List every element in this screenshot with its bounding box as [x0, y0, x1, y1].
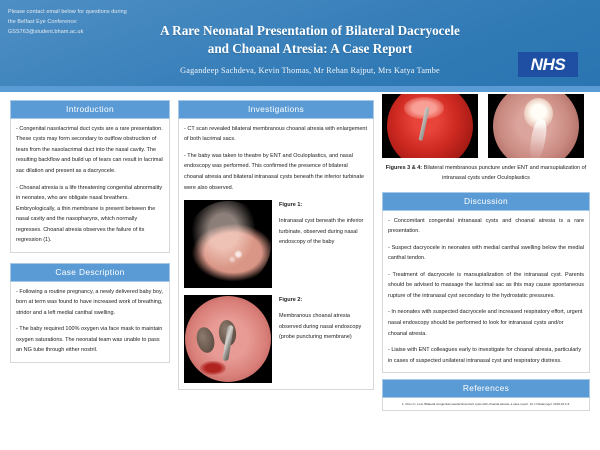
page-title-line2: and Choanal Atresia: A Case Report [208, 41, 413, 56]
endoscopy-image-figure-1 [184, 200, 272, 288]
endoscope-view-icon [387, 94, 473, 158]
endoscopy-image-figure-2 [184, 295, 272, 383]
investigations-paragraph-1: - CT scan revealed bilateral membranous … [184, 124, 368, 145]
choana-opening-left [194, 325, 217, 354]
author-list: Gagandeep Sachdeva, Kevin Thomas, Mr Reh… [130, 66, 490, 75]
column-right: Figures 3 & 4: Bilateral membranous punc… [382, 94, 590, 411]
column-left: Introduction - Congenital nasolacrimal d… [10, 100, 170, 363]
figure-2-caption: Figure 2: Membranous choanal atresia obs… [272, 295, 368, 383]
discussion-paragraph-3: - Treatment of dacryocele is marsupializ… [388, 270, 584, 302]
case-description-paragraph-1: - Following a routine pregnancy, a newly… [16, 287, 164, 319]
section-panel-references: 1. Chen C, et al. Bilateral congenital n… [382, 398, 590, 411]
section-panel-case-description: - Following a routine pregnancy, a newly… [10, 282, 170, 363]
poster-body: Introduction - Congenital nasolacrimal d… [0, 92, 600, 450]
page-title: A Rare Neonatal Presentation of Bilatera… [130, 22, 490, 57]
section-header-introduction: Introduction [10, 100, 170, 119]
figure-1-title: Figure 1: [279, 200, 368, 211]
section-header-investigations: Investigations [178, 100, 374, 119]
section-header-case-description: Case Description [10, 263, 170, 282]
endoscope-view-icon [185, 296, 271, 382]
figures-3-4-caption-text: Bilateral membranous puncture under ENT … [422, 165, 586, 181]
contact-note: Please contact email below for questions… [8, 7, 136, 37]
figures-3-4-caption-label: Figures 3 & 4: [386, 165, 422, 171]
discussion-paragraph-1: - Concomitant congenital intranasal cyst… [388, 216, 584, 237]
discussion-paragraph-5: - Liaise with ENT colleagues early to in… [388, 345, 584, 366]
poster-root: Please contact email below for questions… [0, 0, 600, 450]
figures-3-4-images [382, 94, 590, 158]
page-title-line1: A Rare Neonatal Presentation of Bilatera… [160, 23, 460, 38]
image-figure-3 [382, 94, 478, 158]
endoscope-view-icon [185, 201, 271, 287]
nhs-logo: NHS [518, 52, 578, 77]
section-header-discussion: Discussion [382, 192, 590, 211]
investigations-paragraph-2: - The baby was taken to theatre by ENT a… [184, 151, 368, 193]
figure-1-caption-text: Intranasal cyst beneath the inferior tur… [279, 218, 363, 245]
poster-header: Please contact email below for questions… [0, 0, 600, 92]
figure-2-caption-text: Membranous choanal atresia observed duri… [279, 313, 361, 340]
figures-3-4-caption: Figures 3 & 4: Bilateral membranous punc… [382, 163, 590, 184]
figure-2-row: Figure 2: Membranous choanal atresia obs… [184, 295, 368, 383]
reference-entry-1: 1. Chen C, et al. Bilateral congenital n… [386, 400, 586, 407]
introduction-paragraph-1: - Congenital nasolacrimal duct cysts are… [16, 124, 164, 177]
blood-spot [200, 361, 226, 375]
discussion-paragraph-4: - In neonates with suspected dacryocele … [388, 307, 584, 339]
figure-1-caption: Figure 1: Intranasal cyst beneath the in… [272, 200, 368, 288]
discussion-paragraph-2: - Suspect dacryocele in neonates with me… [388, 243, 584, 264]
case-description-paragraph-2: - The baby required 100% oxygen via face… [16, 324, 164, 356]
introduction-paragraph-2: - Choanal atresia is a life threatening … [16, 183, 164, 246]
section-panel-introduction: - Congenital nasolacrimal duct cysts are… [10, 119, 170, 253]
figure-1-row: Figure 1: Intranasal cyst beneath the in… [184, 200, 368, 288]
column-middle: Investigations - CT scan revealed bilate… [178, 100, 374, 390]
section-panel-investigations: - CT scan revealed bilateral membranous … [178, 119, 374, 390]
figure-2-title: Figure 2: [279, 295, 368, 306]
choana-detail [185, 296, 271, 382]
image-figure-4 [488, 94, 584, 158]
endoscope-view-icon [493, 94, 579, 158]
mucosa-highlight [185, 201, 271, 287]
section-header-references: References [382, 379, 590, 398]
section-panel-discussion: - Concomitant congenital intranasal cyst… [382, 211, 590, 374]
